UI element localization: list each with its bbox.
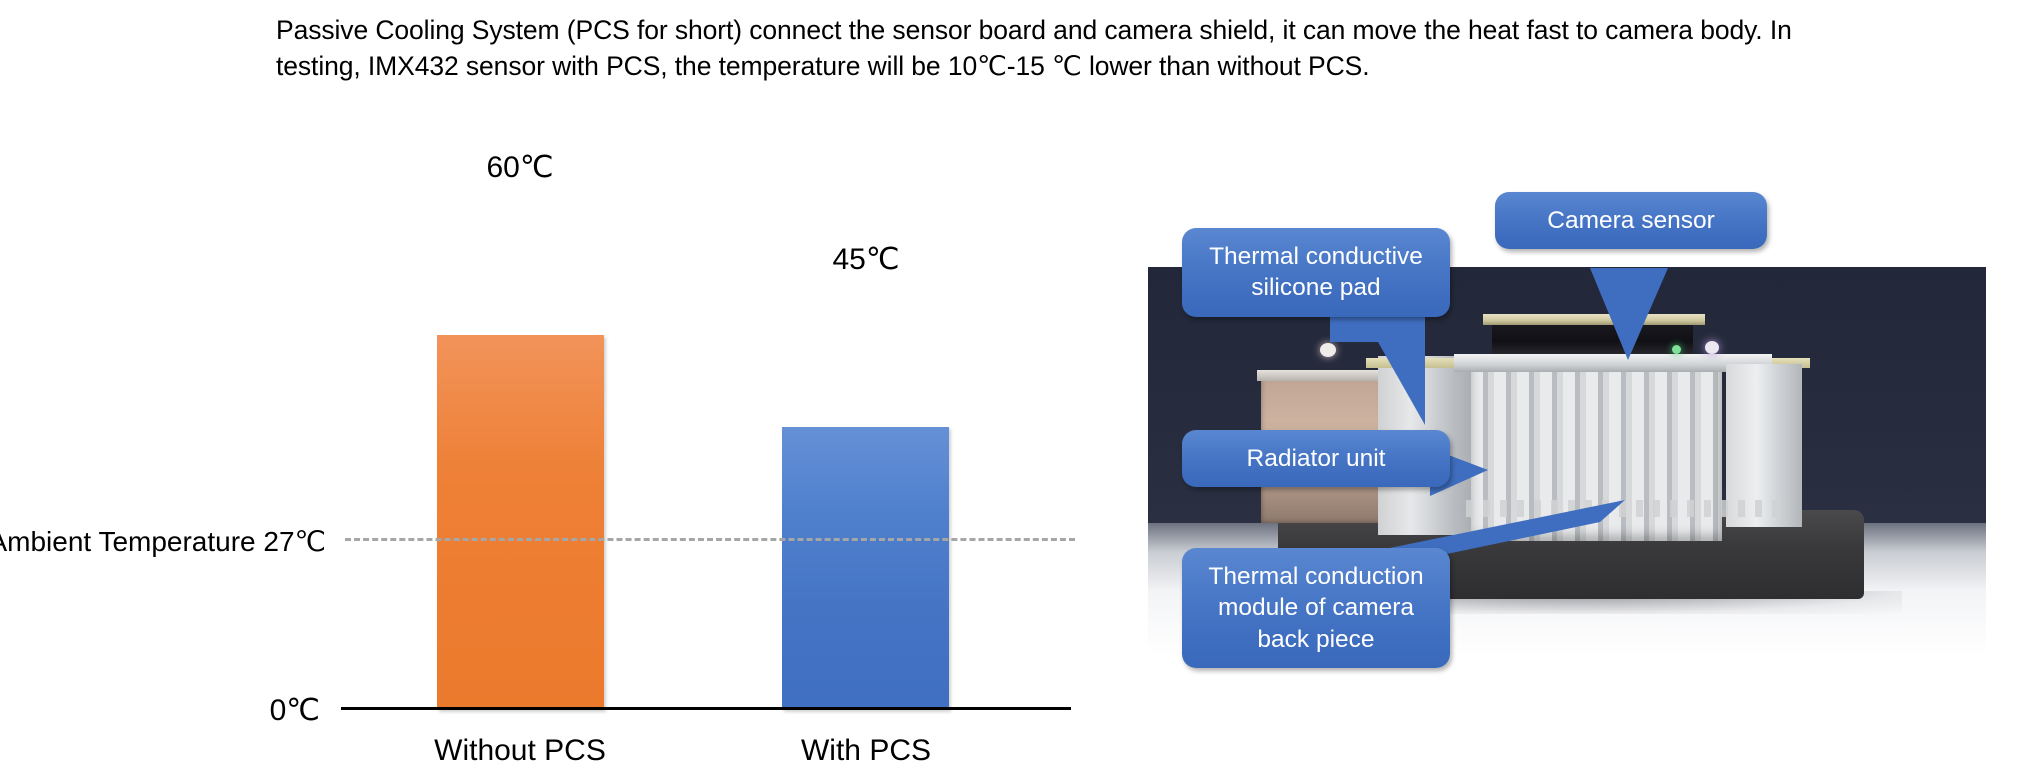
callout-radiator-unit[interactable]: Radiator unit <box>1182 430 1450 487</box>
category-label-with-pcs: With PCS <box>716 734 1016 768</box>
temperature-bar-chart: 60℃ 45℃ Ambient Temperature 27℃ 0℃ Witho… <box>0 150 1100 710</box>
bar-with-pcs <box>782 427 949 710</box>
intro-paragraph: Passive Cooling System (PCS for short) c… <box>276 12 1836 84</box>
chart-baseline-axis <box>341 707 1071 710</box>
bar-value-label-without-pcs: 60℃ <box>420 150 620 185</box>
slide-canvas: Passive Cooling System (PCS for short) c… <box>0 0 2027 769</box>
callout-camera-sensor[interactable]: Camera sensor <box>1495 192 1767 249</box>
bar-value-label-with-pcs: 45℃ <box>766 242 966 277</box>
axis-zero-label: 0℃ <box>200 693 320 728</box>
callout-line: Radiator unit <box>1200 443 1432 474</box>
callout-thermal-conductive-silicone-pad[interactable]: Thermal conductive silicone pad <box>1182 228 1450 317</box>
callout-tail-camera-sensor <box>1590 268 1710 368</box>
ambient-temperature-label: Ambient Temperature 27℃ <box>0 525 326 558</box>
callout-line: Camera sensor <box>1513 205 1749 236</box>
callout-line: Thermal conduction <box>1200 561 1432 592</box>
callout-line: module of camera <box>1200 592 1432 623</box>
callout-line: back piece <box>1200 624 1432 655</box>
category-label-without-pcs: Without PCS <box>370 734 670 768</box>
callout-line: silicone pad <box>1200 272 1432 303</box>
bar-without-pcs <box>437 335 604 710</box>
callout-line: Thermal conductive <box>1200 241 1432 272</box>
ambient-temperature-reference-line <box>345 538 1075 541</box>
callout-thermal-conduction-module[interactable]: Thermal conduction module of camera back… <box>1182 548 1450 668</box>
